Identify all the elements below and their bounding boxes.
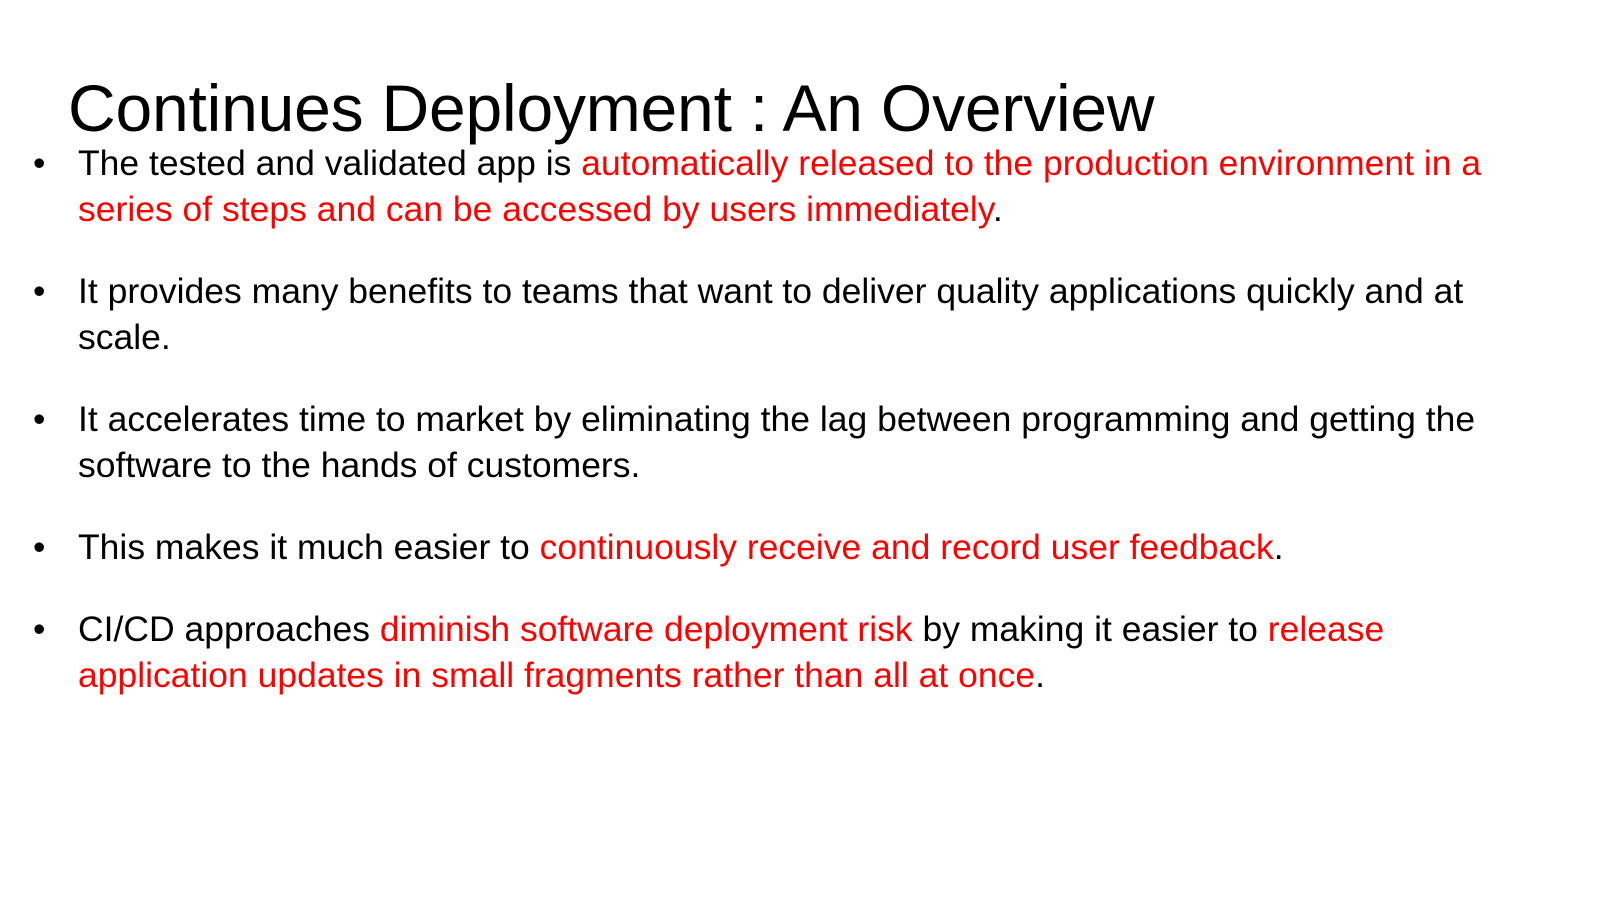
list-item-text: CI/CD approaches diminish software deplo… bbox=[78, 609, 1394, 695]
list-item-text: The tested and validated app is automati… bbox=[78, 143, 1491, 229]
slide-canvas: Continues Deployment : An Overview •The … bbox=[0, 0, 1600, 900]
plain-text: . bbox=[1274, 527, 1284, 567]
list-item-text: It provides many benefits to teams that … bbox=[78, 271, 1473, 357]
highlighted-text: diminish software deployment risk bbox=[380, 609, 913, 649]
plain-text: The tested and validated app is bbox=[78, 143, 581, 183]
plain-text: It accelerates time to market by elimina… bbox=[78, 399, 1485, 485]
bullet-point-icon: • bbox=[33, 396, 53, 442]
plain-text: . bbox=[993, 189, 1003, 229]
bullet-point-icon: • bbox=[33, 524, 53, 570]
list-item: •It accelerates time to market by elimin… bbox=[0, 396, 1600, 488]
page-title: Continues Deployment : An Overview bbox=[68, 72, 1548, 146]
list-item: •This makes it much easier to continuous… bbox=[0, 524, 1600, 570]
bullet-list: •The tested and validated app is automat… bbox=[0, 140, 1600, 698]
bullet-point-icon: • bbox=[33, 606, 53, 652]
bullet-point-icon: • bbox=[33, 140, 53, 186]
highlighted-text: continuously receive and record user fee… bbox=[540, 527, 1274, 567]
plain-text: CI/CD approaches bbox=[78, 609, 380, 649]
list-item-text: It accelerates time to market by elimina… bbox=[78, 399, 1485, 485]
list-item: •CI/CD approaches diminish software depl… bbox=[0, 606, 1600, 698]
plain-text: by making it easier to bbox=[913, 609, 1268, 649]
list-item-text: This makes it much easier to continuousl… bbox=[78, 527, 1284, 567]
list-item: •The tested and validated app is automat… bbox=[0, 140, 1600, 232]
bullet-point-icon: • bbox=[33, 268, 53, 314]
plain-text: It provides many benefits to teams that … bbox=[78, 271, 1473, 357]
plain-text: This makes it much easier to bbox=[78, 527, 540, 567]
plain-text: . bbox=[1035, 655, 1045, 695]
list-item: •It provides many benefits to teams that… bbox=[0, 268, 1600, 360]
